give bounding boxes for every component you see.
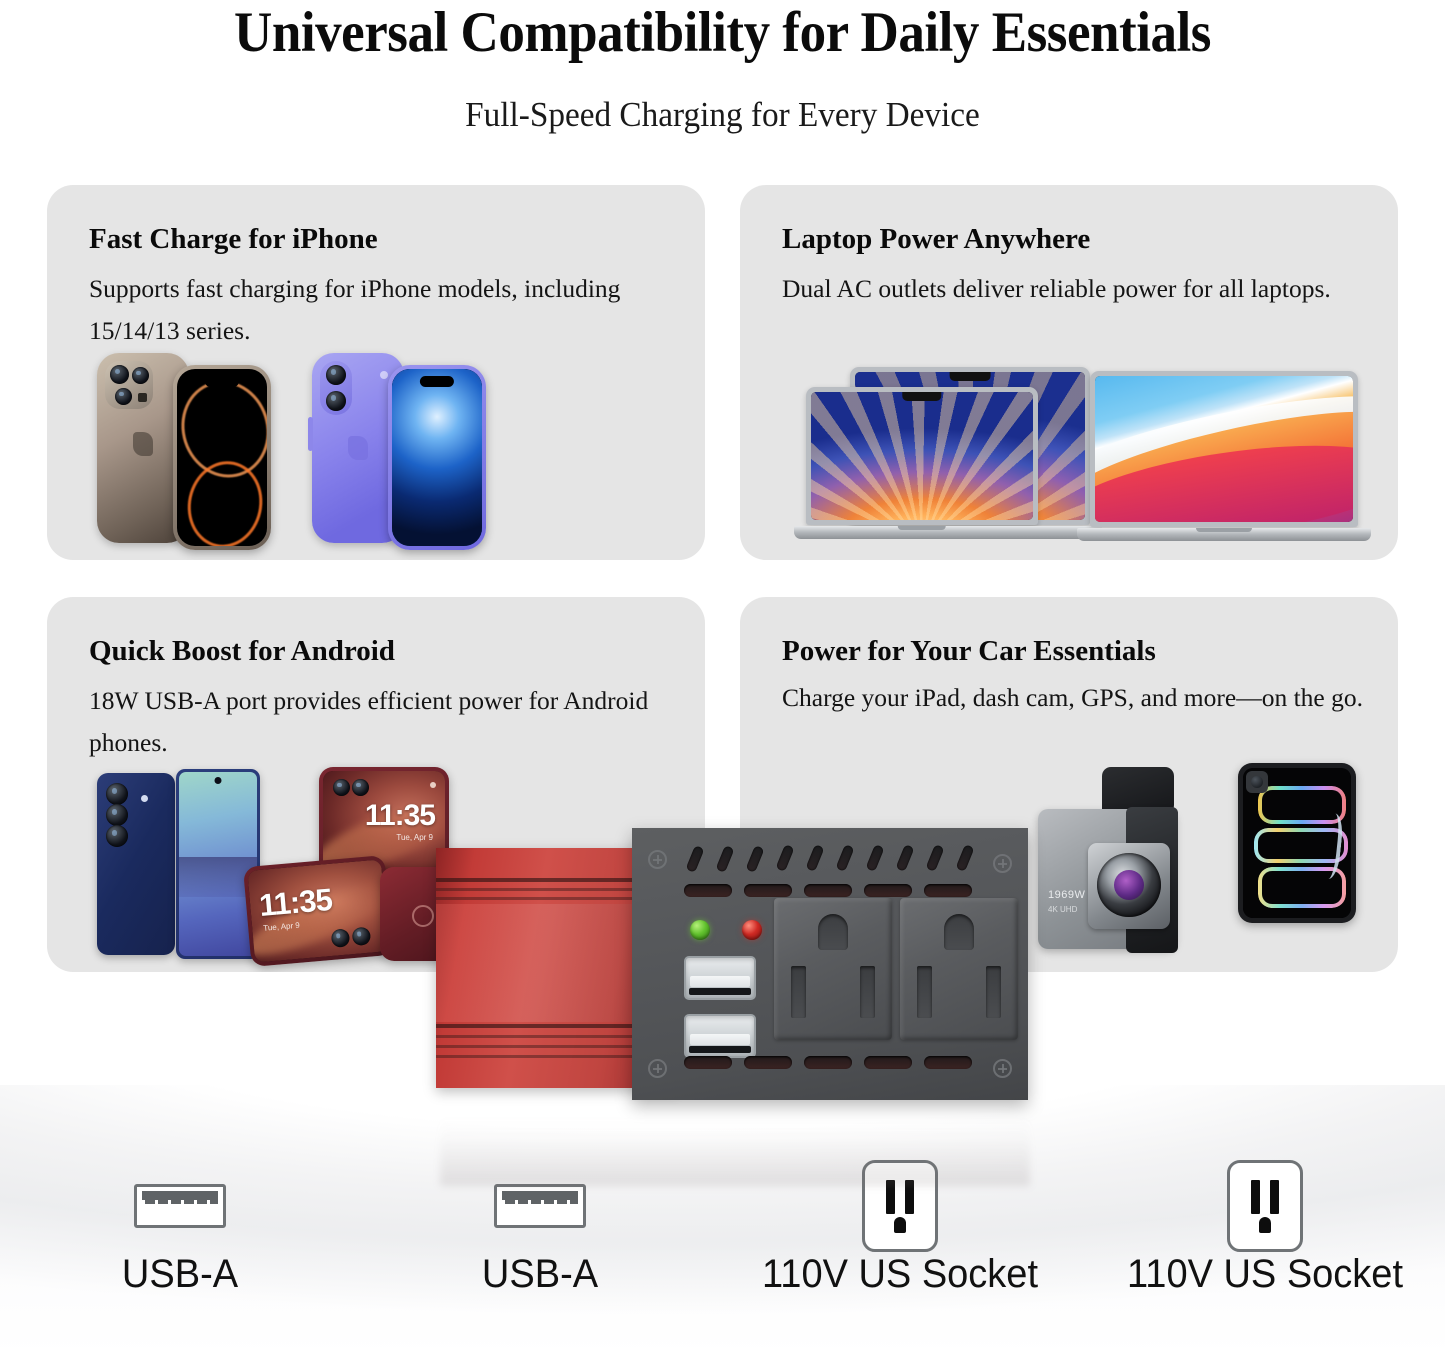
camera-plate-icon bbox=[320, 361, 352, 415]
port-item-socket-2: 110V US Socket bbox=[1115, 1160, 1415, 1297]
port-label: USB-A bbox=[38, 1252, 323, 1297]
port-item-usb-a-1: USB-A bbox=[30, 1160, 330, 1297]
dashcam-spec-label: 4K UHD bbox=[1048, 905, 1077, 914]
usb-a-icon bbox=[494, 1184, 586, 1228]
dashcam-model-label: 1969W bbox=[1048, 889, 1085, 901]
card-heading: Quick Boost for Android bbox=[89, 635, 395, 668]
fault-led-red bbox=[742, 920, 762, 940]
macbook-air-front bbox=[806, 387, 1038, 539]
feature-card-fast-charge-iphone: Fast Charge for iPhone Supports fast cha… bbox=[47, 185, 705, 560]
usb-a-port-bottom[interactable] bbox=[684, 1014, 756, 1058]
screw-icon bbox=[993, 854, 1012, 873]
ipad-camera-icon bbox=[1246, 771, 1268, 793]
usb-a-port-top[interactable] bbox=[684, 956, 756, 1000]
feature-card-laptop-power: Laptop Power Anywhere Dual AC outlets de… bbox=[740, 185, 1398, 560]
iphone-purple-front bbox=[388, 365, 486, 550]
razr-date: Tue, Apr 9 bbox=[396, 833, 433, 842]
power-led-green bbox=[690, 920, 710, 940]
camera-plate-icon bbox=[105, 361, 153, 409]
card-body: Supports fast charging for iPhone models… bbox=[89, 268, 689, 353]
screw-icon bbox=[993, 1059, 1012, 1078]
card-heading: Fast Charge for iPhone bbox=[89, 223, 378, 256]
ac-outlet-right[interactable] bbox=[900, 898, 1018, 1040]
card-body: Dual AC outlets deliver reliable power f… bbox=[782, 268, 1382, 310]
apple-logo-icon bbox=[133, 432, 153, 456]
macbook-air-bigsur bbox=[1090, 371, 1358, 541]
port-label: 110V US Socket bbox=[1123, 1252, 1408, 1297]
ac-outlet-left[interactable] bbox=[774, 898, 892, 1040]
galaxy-fold-back bbox=[97, 773, 175, 955]
card-heading: Power for Your Car Essentials bbox=[782, 635, 1156, 668]
page-subtitle: Full-Speed Charging for Every Device bbox=[36, 95, 1409, 135]
galaxy-fold-screen bbox=[176, 769, 260, 959]
usb-a-icon bbox=[134, 1184, 226, 1228]
us-socket-icon bbox=[1227, 1160, 1303, 1252]
port-label: USB-A bbox=[398, 1252, 683, 1297]
ipad-pro bbox=[1238, 763, 1356, 923]
screw-icon bbox=[648, 850, 667, 869]
apple-logo-icon bbox=[348, 436, 368, 460]
dash-cam: 1969W 4K UHD bbox=[1030, 767, 1230, 962]
card-body: 18W USB-A port provides efficient power … bbox=[89, 680, 689, 765]
car-power-inverter bbox=[432, 822, 1032, 1122]
card-heading: Laptop Power Anywhere bbox=[782, 223, 1090, 256]
iphone-titanium-front bbox=[173, 365, 271, 550]
motorola-logo-icon bbox=[412, 905, 434, 927]
infographic-page: Universal Compatibility for Daily Essent… bbox=[0, 0, 1445, 1357]
product-reflection bbox=[440, 1116, 1030, 1186]
motorola-razr-folded-screen: 11:35 Tue, Apr 9 bbox=[243, 855, 393, 967]
razr-clock: 11:35 bbox=[365, 799, 435, 833]
card-media-iphones bbox=[47, 345, 705, 560]
razr-clock: 11:35 bbox=[258, 882, 333, 924]
screw-icon bbox=[648, 1059, 667, 1078]
page-title: Universal Compatibility for Daily Essent… bbox=[51, 2, 1395, 64]
card-media-laptops bbox=[740, 345, 1398, 560]
card-body: Charge your iPad, dash cam, GPS, and mor… bbox=[782, 680, 1382, 717]
inverter-faceplate bbox=[632, 828, 1028, 1100]
port-label: 110V US Socket bbox=[758, 1252, 1043, 1297]
